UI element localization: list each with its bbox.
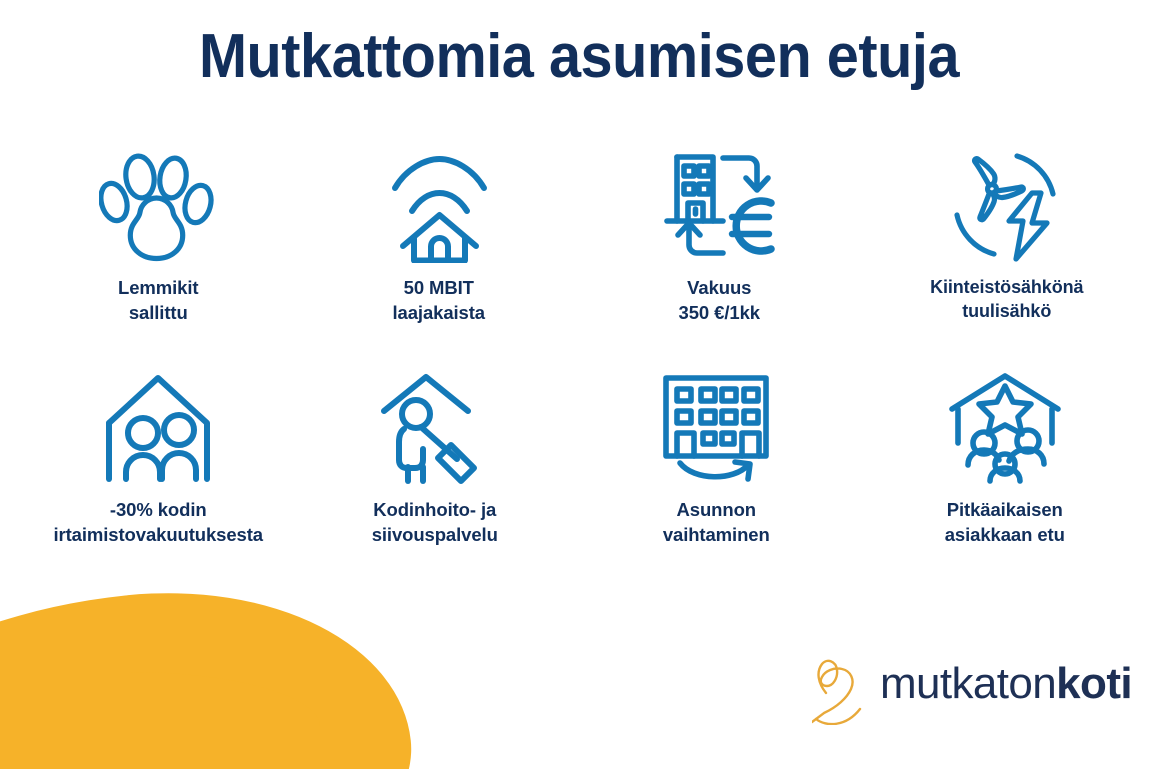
house-star-people-icon: [946, 370, 1064, 488]
benefit-label: Lemmikit sallittu: [118, 276, 198, 325]
paw-print-icon: [99, 148, 215, 266]
logo-text-light: mutkaton: [880, 659, 1056, 708]
page-title: Mutkattomia asumisen etuja: [41, 24, 1118, 90]
benefit-item-apartment-swap: Asunnon vaihtaminen: [579, 370, 860, 580]
wind-turbine-bolt-icon: [948, 148, 1066, 266]
benefit-label: Pitkäaikaisen asiakkaan etu: [945, 498, 1065, 547]
apartment-swap-icon: [658, 370, 774, 488]
benefit-item-pets: Lemmikit sallittu: [18, 148, 299, 358]
benefit-item-broadband: 50 MBIT laajakaista: [299, 148, 580, 358]
brand-logo: mutkatonkoti: [812, 649, 1132, 725]
logo-text-bold: koti: [1056, 659, 1132, 708]
benefit-label: Asunnon vaihtaminen: [663, 498, 770, 547]
benefit-item-wind-power: Kiinteistösähkönä tuulisähkö: [860, 148, 1141, 358]
benefit-label: Kiinteistösähkönä tuulisähkö: [930, 276, 1083, 324]
slide: Mutkattomia asumisen etuja Lemmikit sall…: [0, 0, 1158, 769]
benefit-item-deposit: Vakuus 350 €/1kk: [579, 148, 860, 358]
benefit-label: 50 MBIT laajakaista: [392, 276, 485, 325]
benefit-label: Kodinhoito- ja siivouspalvelu: [372, 498, 498, 547]
cleaning-person-icon: [377, 370, 493, 488]
benefit-label: Vakuus 350 €/1kk: [679, 276, 760, 325]
benefit-item-cleaning-service: Kodinhoito- ja siivouspalvelu: [299, 370, 580, 580]
benefit-item-contents-insurance: -30% kodin irtaimistovakuutuksesta: [18, 370, 299, 580]
benefit-item-loyalty: Pitkäaikaisen asiakkaan etu: [860, 370, 1141, 580]
heart-swoosh-icon: [812, 649, 876, 725]
building-euro-swap-icon: [657, 148, 781, 266]
benefit-label: -30% kodin irtaimistovakuutuksesta: [53, 498, 263, 547]
logo-wordmark: mutkatonkoti: [880, 662, 1132, 706]
wifi-house-icon: [383, 148, 495, 266]
benefits-grid: Lemmikit sallittu 50 MBIT laajakaista: [18, 148, 1140, 580]
house-family-icon: [100, 370, 216, 488]
